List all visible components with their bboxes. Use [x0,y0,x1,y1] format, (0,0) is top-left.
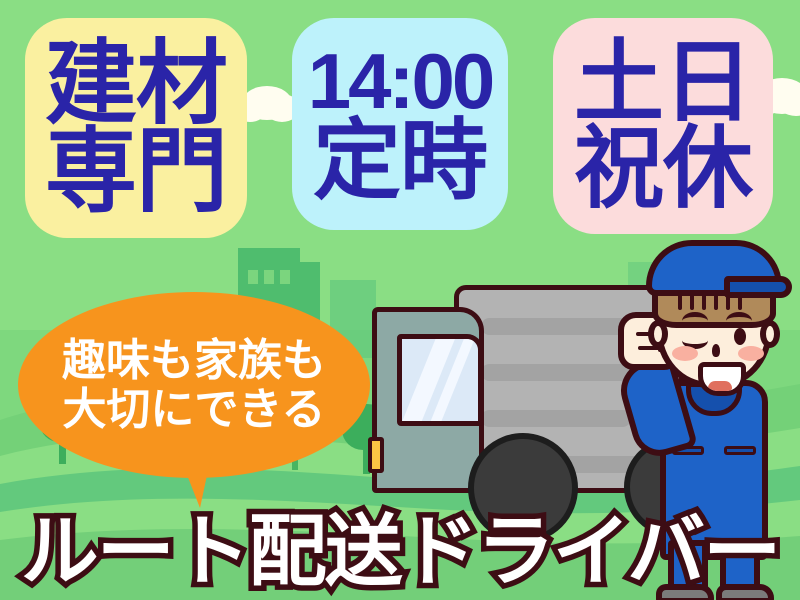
cloud-icon [242,86,292,120]
driver-mouth [698,362,746,396]
driver-eyebrow-left [682,312,708,330]
badge-1-line2: 専門 [45,128,227,216]
driver-cap-brim [724,276,792,298]
badge-donichi-shukukyu: 土日 祝休 [553,18,773,234]
badge-2-line1: 14:00 [308,44,493,119]
truck-window [397,334,483,426]
poster-canvas: 建材 専門 14:00 定時 土日 祝休 趣味も家族も 大切にできる ルート配送… [0,0,800,600]
badge-2-line2: 定時 [313,119,487,203]
badge-3-line2: 祝休 [574,126,752,212]
driver-cheek-left [672,346,698,361]
speech-bubble-line2: 大切にできる [62,385,325,434]
badge-1400-teiji: 14:00 定時 [292,18,508,230]
badge-1-line1: 建材 [45,40,227,128]
headline-banner: ルート配送ドライバー [0,490,800,600]
driver-pocket-right [724,446,756,455]
driver-cheek-right [738,346,764,361]
driver-nose [712,344,720,357]
badge-kenzai-senmon: 建材 専門 [25,18,247,238]
speech-bubble: 趣味も家族も 大切にできる [18,292,370,478]
speech-bubble-line1: 趣味も家族も [62,336,326,385]
truck-headlight [368,437,384,473]
driver-eye-open [734,328,746,345]
headline-text: ルート配送ドライバー [21,489,779,600]
badge-3-line1: 土日 [574,40,752,126]
truck-cab [372,307,484,493]
